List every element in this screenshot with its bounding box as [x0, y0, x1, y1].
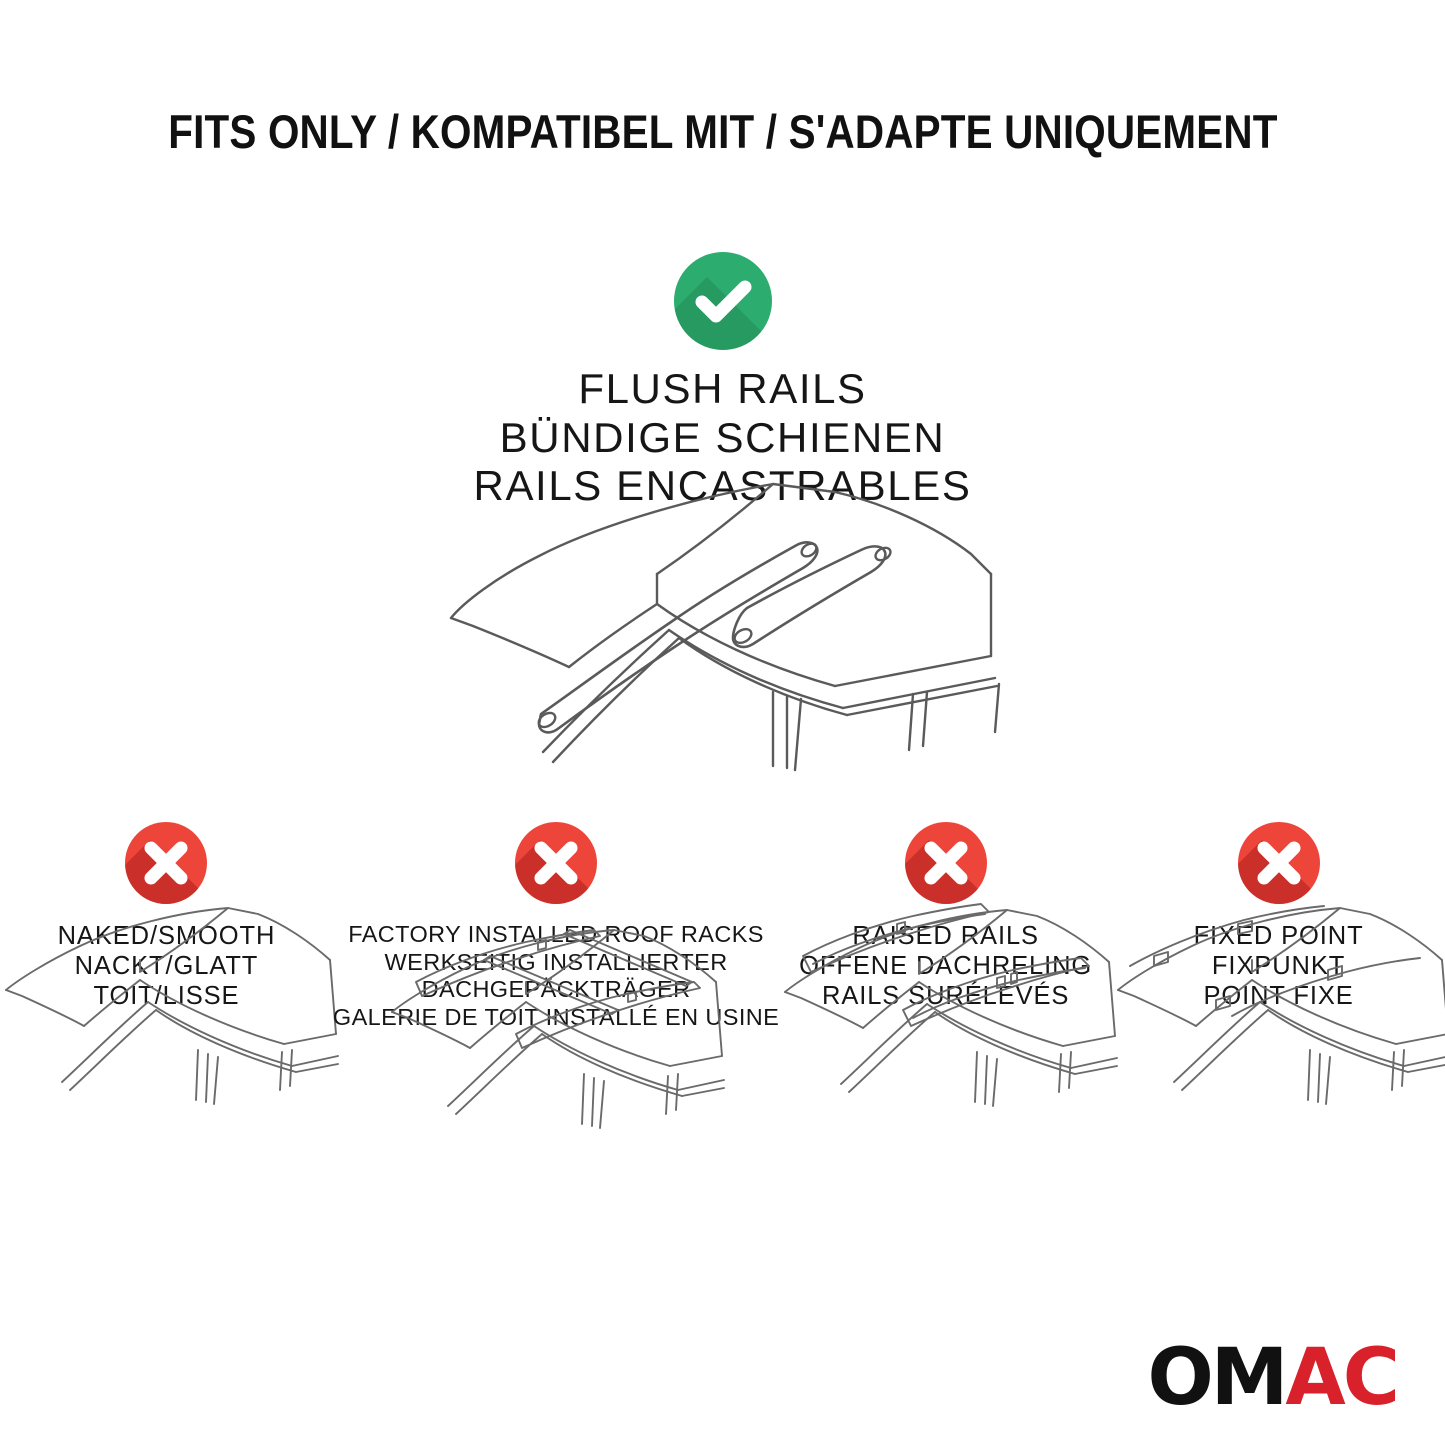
- incompatible-item-naked-smooth: NAKED/SMOOTH NACKT/GLATT TOIT/LISSE: [0, 822, 333, 1032]
- incompatible-item-raised-rails: RAISED RAILS OFFENE DACHRELING RAILS SUR…: [779, 822, 1112, 1032]
- logo-text-accent: AC: [1285, 1333, 1397, 1423]
- incompatible-item-fixed-point: FIXED POINT FIXPUNKT POINT FIXE: [1112, 822, 1445, 1032]
- header: FITS ONLY / KOMPATIBEL MIT / S'ADAPTE UN…: [0, 104, 1445, 159]
- car-roof-fixed-points-illustration: [1112, 904, 1445, 1119]
- compatible-label-de: BÜNDIGE SCHIENEN: [0, 414, 1445, 463]
- compatible-label-en: FLUSH RAILS: [0, 365, 1445, 414]
- x-circle-icon: [125, 822, 207, 904]
- car-roof-with-flush-rails-illustration: [0, 470, 1445, 775]
- check-circle-icon: [674, 252, 772, 350]
- omac-logo: OMAC: [1147, 1339, 1397, 1417]
- car-roof-with-crossbars-illustration: [333, 930, 779, 1145]
- page-title: FITS ONLY / KOMPATIBEL MIT / S'ADAPTE UN…: [168, 104, 1277, 159]
- incompatible-item-factory-roof-racks: FACTORY INSTALLED ROOF RACKS WERKSEITIG …: [333, 822, 779, 1032]
- incompatible-section: NAKED/SMOOTH NACKT/GLATT TOIT/LISSE: [0, 822, 1445, 1032]
- car-roof-raised-rails-illustration: [779, 904, 1112, 1119]
- x-circle-icon: [905, 822, 987, 904]
- logo-text-dark: OM: [1147, 1333, 1285, 1423]
- x-circle-icon: [515, 822, 597, 904]
- car-roof-bare-illustration: [0, 904, 333, 1119]
- x-circle-icon: [1238, 822, 1320, 904]
